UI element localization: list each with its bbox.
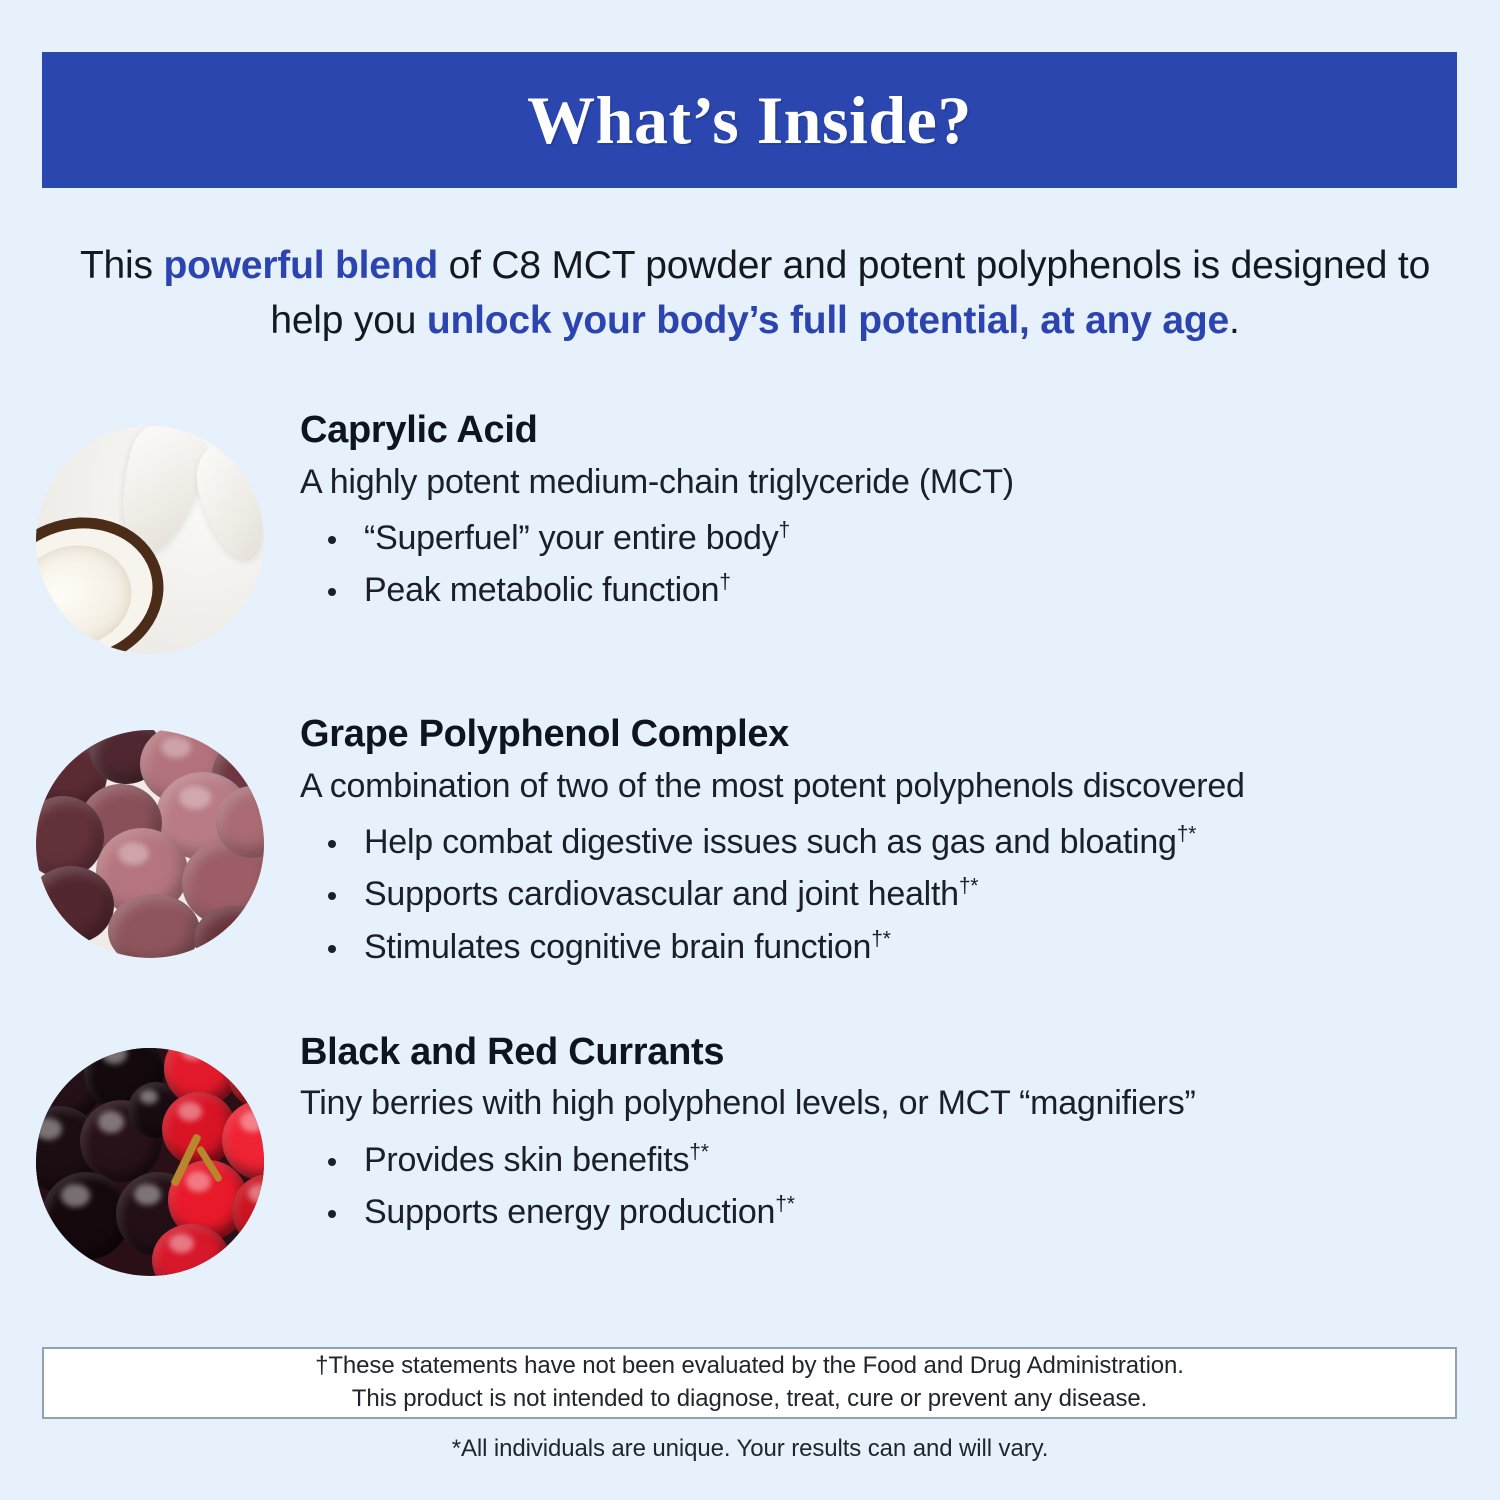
benefit-text: Help combat digestive issues such as gas…: [364, 823, 1177, 861]
intro-highlight-2: unlock your body’s full potential, at an…: [427, 299, 1229, 342]
ingredient-title: Caprylic Acid: [300, 408, 1460, 454]
ingredient-list: Caprylic Acid A highly potent medium-cha…: [0, 408, 1500, 1276]
list-item: Stimulates cognitive brain function†*: [318, 921, 1460, 974]
ingredient-benefits: Provides skin benefits†* Supports energy…: [300, 1134, 1460, 1239]
ingredient-item: Black and Red Currants Tiny berries with…: [0, 1030, 1500, 1276]
red-currant-icon: [228, 1048, 264, 1108]
footnote-marker: †*: [959, 875, 978, 898]
disclaimer-line-1: †These statements have not been evaluate…: [315, 1350, 1184, 1383]
list-item: Supports energy production†*: [318, 1186, 1460, 1239]
ingredient-text: Black and Red Currants Tiny berries with…: [300, 1030, 1500, 1239]
coconut-image: [36, 426, 264, 654]
footnote-marker: †: [719, 571, 730, 594]
ingredient-description: Tiny berries with high polyphenol levels…: [300, 1081, 1460, 1125]
results-footnote: *All individuals are unique. Your result…: [0, 1435, 1500, 1463]
footnote-marker: †*: [871, 928, 890, 951]
ingredient-title: Grape Polyphenol Complex: [300, 712, 1460, 758]
ingredient-item: Grape Polyphenol Complex A combination o…: [0, 712, 1500, 974]
infographic-page: What’s Inside? This powerful blend of C8…: [0, 0, 1500, 1500]
grapes-image: [36, 730, 264, 958]
ingredient-title: Black and Red Currants: [300, 1030, 1460, 1076]
disclaimer-line-2: This product is not intended to diagnose…: [352, 1383, 1147, 1416]
intro-paragraph: This powerful blend of C8 MCT powder and…: [70, 238, 1440, 349]
benefit-text: Provides skin benefits: [364, 1141, 689, 1179]
list-item: Supports cardiovascular and joint health…: [318, 868, 1460, 921]
fda-disclaimer-box: †These statements have not been evaluate…: [42, 1347, 1457, 1419]
footnote-marker: †*: [775, 1193, 794, 1216]
list-item: Provides skin benefits†*: [318, 1134, 1460, 1187]
list-item: Peak metabolic function†: [318, 564, 1460, 617]
grape-icon: [108, 894, 200, 958]
ingredient-benefits: Help combat digestive issues such as gas…: [300, 816, 1460, 974]
benefit-text: Supports cardiovascular and joint health: [364, 875, 959, 913]
footnote-marker: †: [778, 518, 789, 541]
grape-icon: [36, 866, 114, 944]
benefit-text: Supports energy production: [364, 1193, 775, 1231]
ingredient-text: Grape Polyphenol Complex A combination o…: [300, 712, 1500, 974]
ingredient-benefits: “Superfuel” your entire body† Peak metab…: [300, 512, 1460, 617]
ingredient-thumb-wrap: [0, 408, 300, 654]
intro-text-1: This: [80, 244, 164, 287]
benefit-text: “Superfuel” your entire body: [364, 519, 778, 557]
ingredient-thumb-wrap: [0, 1030, 300, 1276]
ingredient-item: Caprylic Acid A highly potent medium-cha…: [0, 408, 1500, 654]
intro-highlight-1: powerful blend: [163, 244, 438, 287]
footnote-marker: †*: [1177, 822, 1196, 845]
benefit-text: Stimulates cognitive brain function: [364, 928, 871, 966]
ingredient-description: A highly potent medium-chain triglycerid…: [300, 460, 1460, 504]
ingredient-thumb-wrap: [0, 712, 300, 958]
intro-text-3: .: [1229, 299, 1240, 342]
benefit-text: Peak metabolic function: [364, 571, 719, 609]
list-item: Help combat digestive issues such as gas…: [318, 816, 1460, 869]
ingredient-description: A combination of two of the most potent …: [300, 764, 1460, 808]
page-title: What’s Inside?: [527, 86, 972, 154]
header-banner: What’s Inside?: [42, 52, 1457, 188]
list-item: “Superfuel” your entire body†: [318, 512, 1460, 565]
ingredient-text: Caprylic Acid A highly potent medium-cha…: [300, 408, 1500, 617]
currants-image: [36, 1048, 264, 1276]
footnote-marker: †*: [689, 1140, 708, 1163]
